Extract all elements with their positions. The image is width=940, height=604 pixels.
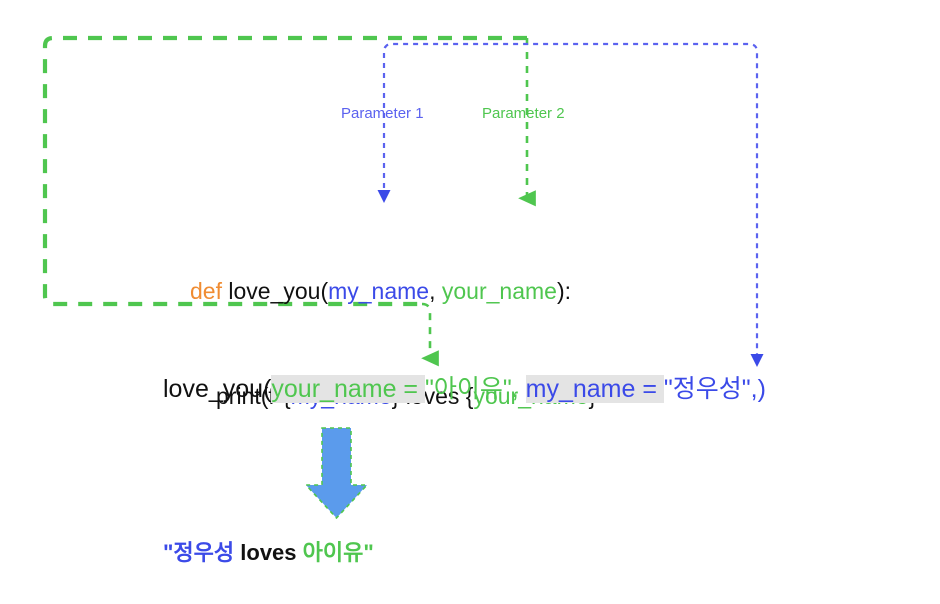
- blue-arrowhead-def-my-name: [378, 190, 391, 203]
- call-kwarg-your-name-value: "아이유": [425, 375, 512, 403]
- call-kwarg-my-name-key: my_name =: [526, 375, 664, 403]
- blue-arrowhead-call-my-name: [751, 354, 764, 367]
- def-close-paren: ):: [557, 278, 571, 304]
- call-kwarg-separator: ,: [512, 375, 526, 403]
- result-my-name: "정우성: [163, 540, 234, 565]
- result-your-name: 아이유": [303, 540, 374, 565]
- function-definition-code: def love_you(my_name, your_name): print(…: [190, 204, 604, 484]
- def-param-your-name: your_name: [442, 278, 557, 304]
- def-param-my-name: my_name: [328, 278, 429, 304]
- call-kwarg-my-name-value: "정우성": [664, 375, 751, 403]
- code-line-def: def love_you(my_name, your_name):: [190, 274, 604, 309]
- function-name-open: love_you(: [228, 278, 328, 304]
- def-param-separator: ,: [429, 278, 442, 304]
- call-close-paren: ,): [751, 375, 766, 403]
- result-verb: loves: [234, 540, 302, 565]
- parameter-1-label: Parameter 1: [341, 106, 424, 121]
- call-kwarg-your-name-key: your_name =: [271, 375, 425, 403]
- def-keyword: def: [190, 278, 222, 304]
- call-function-name: love_you(: [163, 375, 271, 403]
- output-result-line: "정우성 loves 아이유": [163, 538, 374, 568]
- function-call-line: love_you(your_name = "아이유", my_name = "정…: [163, 372, 766, 406]
- parameter-2-label: Parameter 2: [482, 106, 565, 121]
- diagram-canvas: Parameter 1 Parameter 2 def love_you(my_…: [0, 0, 940, 604]
